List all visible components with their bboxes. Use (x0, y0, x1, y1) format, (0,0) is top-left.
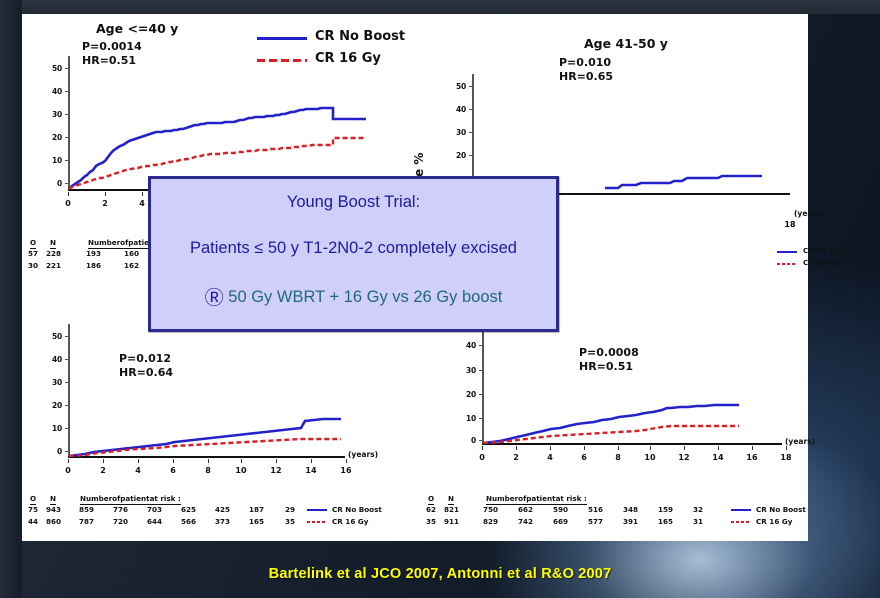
risk-count: 31 (693, 517, 703, 526)
legend-label: CR 16 Gy (803, 259, 838, 267)
risk-count: 391 (623, 517, 638, 526)
legend-label: CR No Boost (315, 29, 405, 44)
risk-count: 187 (249, 505, 264, 514)
slide-root: Age <=40 y P=0.0014 HR=0.51 50 40 30 20 … (0, 0, 880, 598)
curve-cr-16-gy (483, 426, 739, 443)
legend-line-dashed-icon (777, 263, 797, 265)
curve-cr-no-boost (69, 419, 341, 456)
risk-count: 787 (79, 517, 94, 526)
risk-o: 62 (426, 505, 436, 514)
risk-count: 590 (553, 505, 568, 514)
legend-line-dashed-icon (257, 59, 307, 62)
risk-header-o: O (30, 238, 36, 249)
risk-count: 373 (215, 517, 230, 526)
legend-line-dashed-icon (731, 521, 751, 523)
risk-row: 35 911 829 742 669 577 391 165 31 CR 16 … (426, 517, 806, 529)
citation-footer: Bartelink et al JCO 2007, Antonni et al … (0, 566, 880, 582)
risk-count: 160 (124, 249, 139, 258)
risk-count: 165 (658, 517, 673, 526)
risk-o: 30 (28, 261, 38, 270)
risk-count: 669 (553, 517, 568, 526)
risk-count: 776 (113, 505, 128, 514)
slide-left-edge (0, 0, 22, 598)
legend-line-dashed-icon (307, 521, 327, 523)
registered-mark-icon: Ⓡ (205, 288, 224, 309)
risk-count: 829 (483, 517, 498, 526)
risk-n: 221 (46, 261, 61, 270)
curve-cr-no-boost (483, 405, 739, 443)
risk-o: 57 (28, 249, 38, 258)
risk-count: 186 (86, 261, 101, 270)
risk-count: 516 (588, 505, 603, 514)
risk-count: 29 (285, 505, 295, 514)
risk-row: 62 821 750 662 590 516 348 159 32 CR No … (426, 505, 806, 517)
risk-count: 348 (623, 505, 638, 514)
risk-count: 750 (483, 505, 498, 514)
risk-header-title: Numberofpatientat risk : (80, 494, 181, 505)
risk-series-label: CR No Boost (756, 505, 806, 514)
risk-series-label: CR 16 Gy (332, 517, 368, 526)
chart-bottom-right: P=0.0008 HR=0.51 40 30 20 10 0 0 2 4 6 8… (422, 324, 808, 539)
risk-n: 228 (46, 249, 61, 258)
risk-count: 625 (181, 505, 196, 514)
risk-row: 44 860 787 720 644 566 373 165 35 CR 16 … (28, 517, 388, 529)
callout-title: Young Boost Trial: (151, 193, 556, 212)
risk-header-n: N (50, 494, 56, 505)
legend-line-solid-icon (777, 251, 797, 253)
risk-n: 860 (46, 517, 61, 526)
risk-count: 165 (249, 517, 264, 526)
legend-line-solid-icon (257, 37, 307, 40)
risk-count: 162 (124, 261, 139, 270)
risk-header-o: O (30, 494, 36, 505)
risk-count: 425 (215, 505, 230, 514)
risk-count: 644 (147, 517, 162, 526)
risk-header-o: O (428, 494, 434, 505)
risk-count: 662 (518, 505, 533, 514)
legend-line-solid-icon (731, 509, 751, 511)
risk-o: 75 (28, 505, 38, 514)
risk-header: O N Numberofpatientat risk : (28, 494, 388, 505)
legend-line-solid-icon (307, 509, 327, 511)
risk-o: 35 (426, 517, 436, 526)
chart-bottom-left: P=0.012 HR=0.64 50 40 30 20 10 0 0 2 4 6… (22, 324, 412, 539)
callout-randomization: Ⓡ 50 Gy WBRT + 16 Gy vs 26 Gy boost (151, 283, 556, 310)
risk-count: 566 (181, 517, 196, 526)
risk-series-label: CR 16 Gy (756, 517, 792, 526)
risk-count: 35 (285, 517, 295, 526)
risk-count: 32 (693, 505, 703, 514)
risk-table-bottom-left: O N Numberofpatientat risk : 75 943 859 … (28, 494, 388, 529)
risk-count: 159 (658, 505, 673, 514)
risk-header-title: Numberofpatientat risk : (486, 494, 587, 505)
risk-header-n: N (50, 238, 56, 249)
risk-table-bottom-right: O N Numberofpatientat risk : 62 821 750 … (426, 494, 806, 529)
risk-header-n: N (448, 494, 454, 505)
risk-o: 44 (28, 517, 38, 526)
callout-eligibility: Patients ≤ 50 y T1-2N0-2 completely exci… (151, 239, 556, 258)
curve-cr-16-gy (69, 439, 341, 456)
risk-count: 193 (86, 249, 101, 258)
risk-count: 742 (518, 517, 533, 526)
risk-header: O N Numberofpatientat risk : (426, 494, 806, 505)
risk-n: 821 (444, 505, 459, 514)
risk-count: 720 (113, 517, 128, 526)
risk-count: 859 (79, 505, 94, 514)
risk-row: 75 943 859 776 703 625 425 187 29 CR No … (28, 505, 388, 517)
risk-n: 943 (46, 505, 61, 514)
curve-cr-no-boost (605, 176, 762, 188)
legend-label: CR 16 Gy (315, 51, 381, 66)
young-boost-trial-callout: Young Boost Trial: Patients ≤ 50 y T1-2N… (148, 176, 559, 332)
slide-top-edge (0, 0, 880, 14)
risk-n: 911 (444, 517, 459, 526)
legend-label: CR No Boost (803, 247, 852, 255)
risk-count: 703 (147, 505, 162, 514)
risk-series-label: CR No Boost (332, 505, 382, 514)
callout-randomization-text: 50 Gy WBRT + 16 Gy vs 26 Gy boost (228, 288, 502, 306)
risk-count: 577 (588, 517, 603, 526)
